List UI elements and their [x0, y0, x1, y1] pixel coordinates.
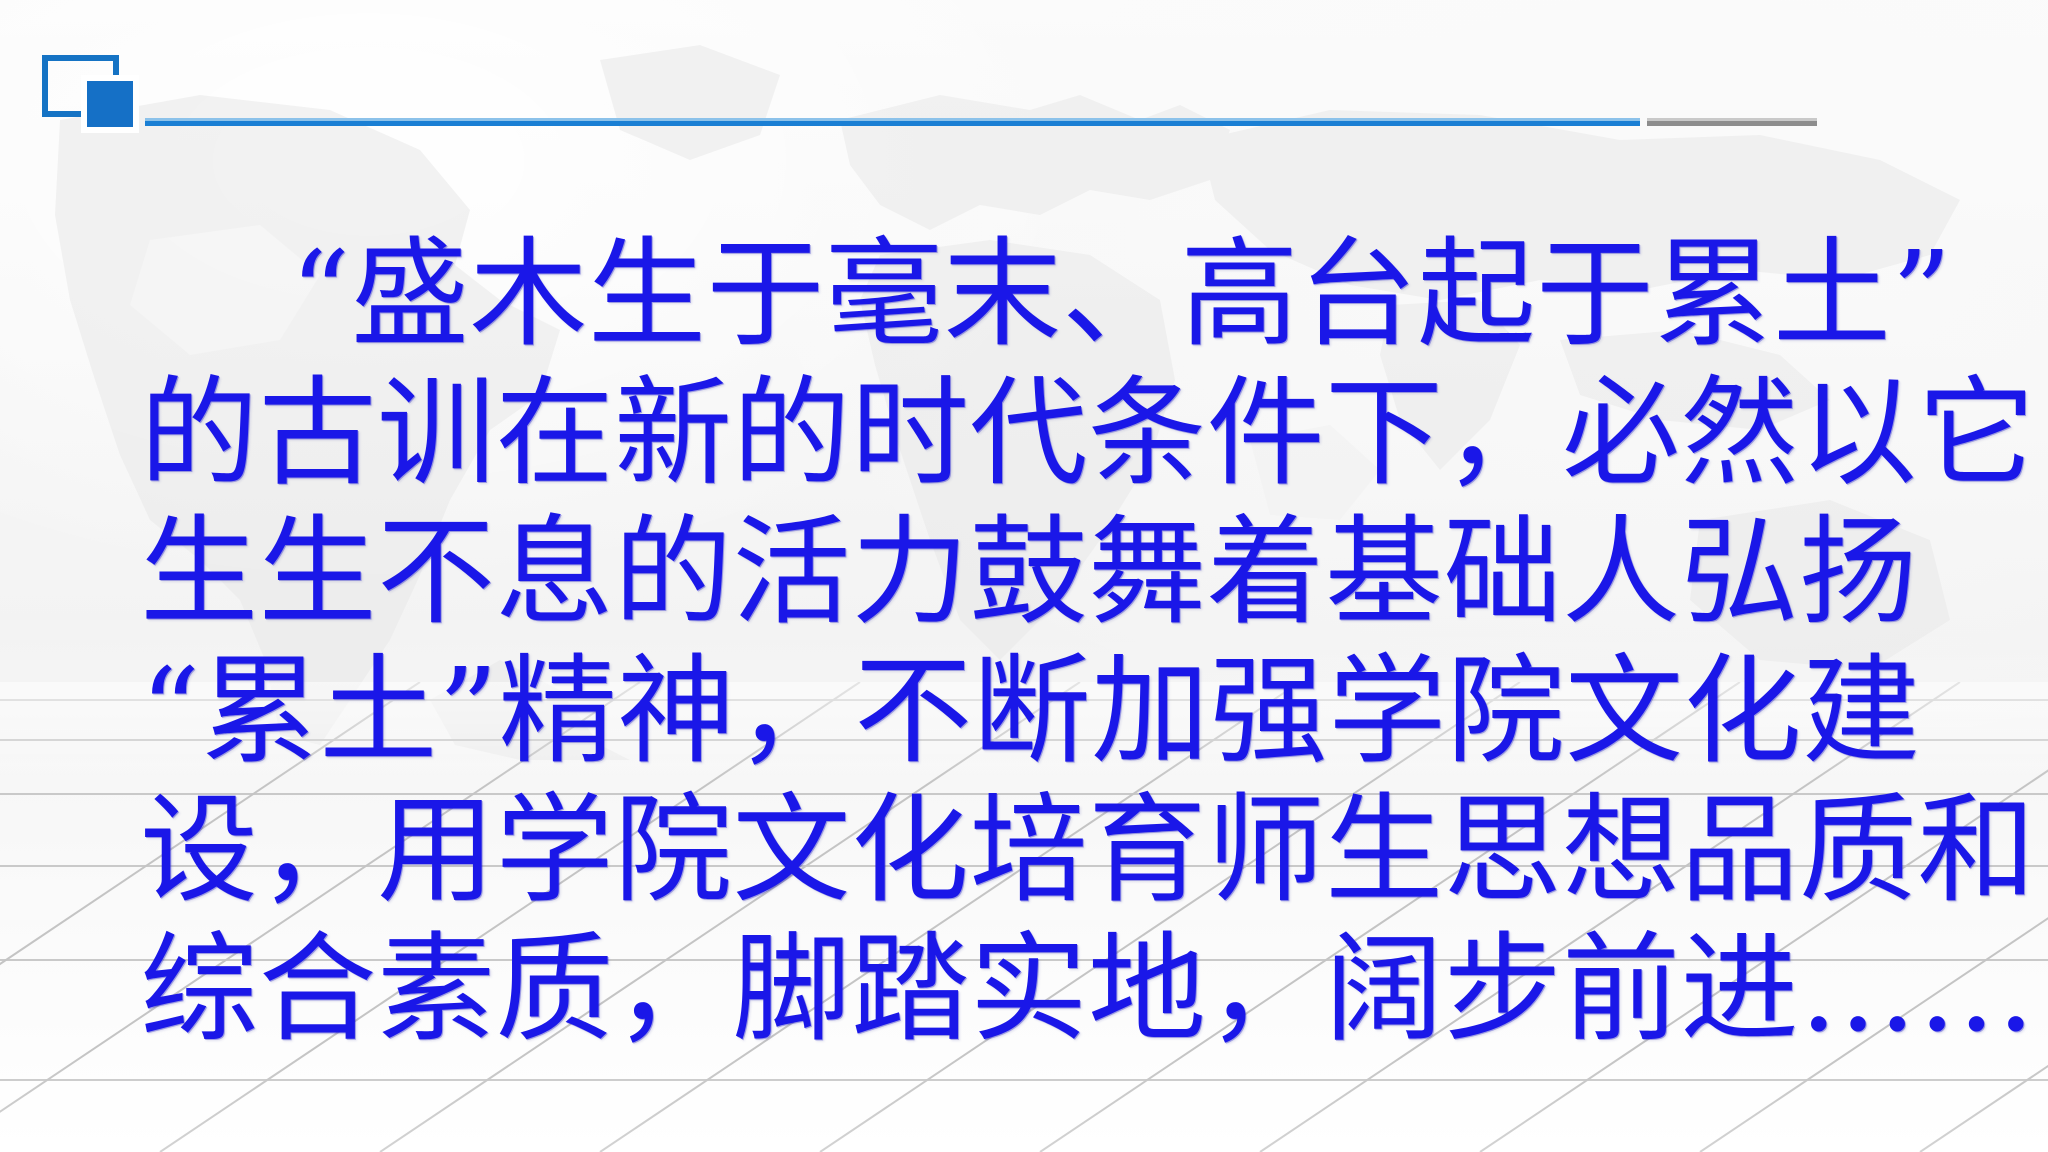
body-line: “盛木生于毫末、高台起于累土” — [140, 225, 1930, 364]
slide-header — [0, 0, 2048, 150]
body-line: 设，用学院文化培育师生思想品质和 — [140, 781, 1930, 920]
blue-horizontal-rule — [145, 121, 1640, 126]
body-line: 综合素质，脚踏实地，阔步前进…… — [140, 920, 1930, 1059]
slide-body-text: “盛木生于毫末、高台起于累土” 的古训在新的时代条件下，必然以它 生生不息的活力… — [140, 225, 1930, 1059]
body-line: “累土”精神，不断加强学院文化建 — [140, 642, 1930, 781]
body-line: 的古训在新的时代条件下，必然以它 — [140, 364, 1930, 503]
grey-horizontal-rule — [1647, 121, 1817, 126]
filled-square-icon — [87, 81, 133, 127]
body-line: 生生不息的活力鼓舞着基础人弘扬 — [140, 503, 1930, 642]
slide-canvas: “盛木生于毫末、高台起于累土” 的古训在新的时代条件下，必然以它 生生不息的活力… — [0, 0, 2048, 1152]
